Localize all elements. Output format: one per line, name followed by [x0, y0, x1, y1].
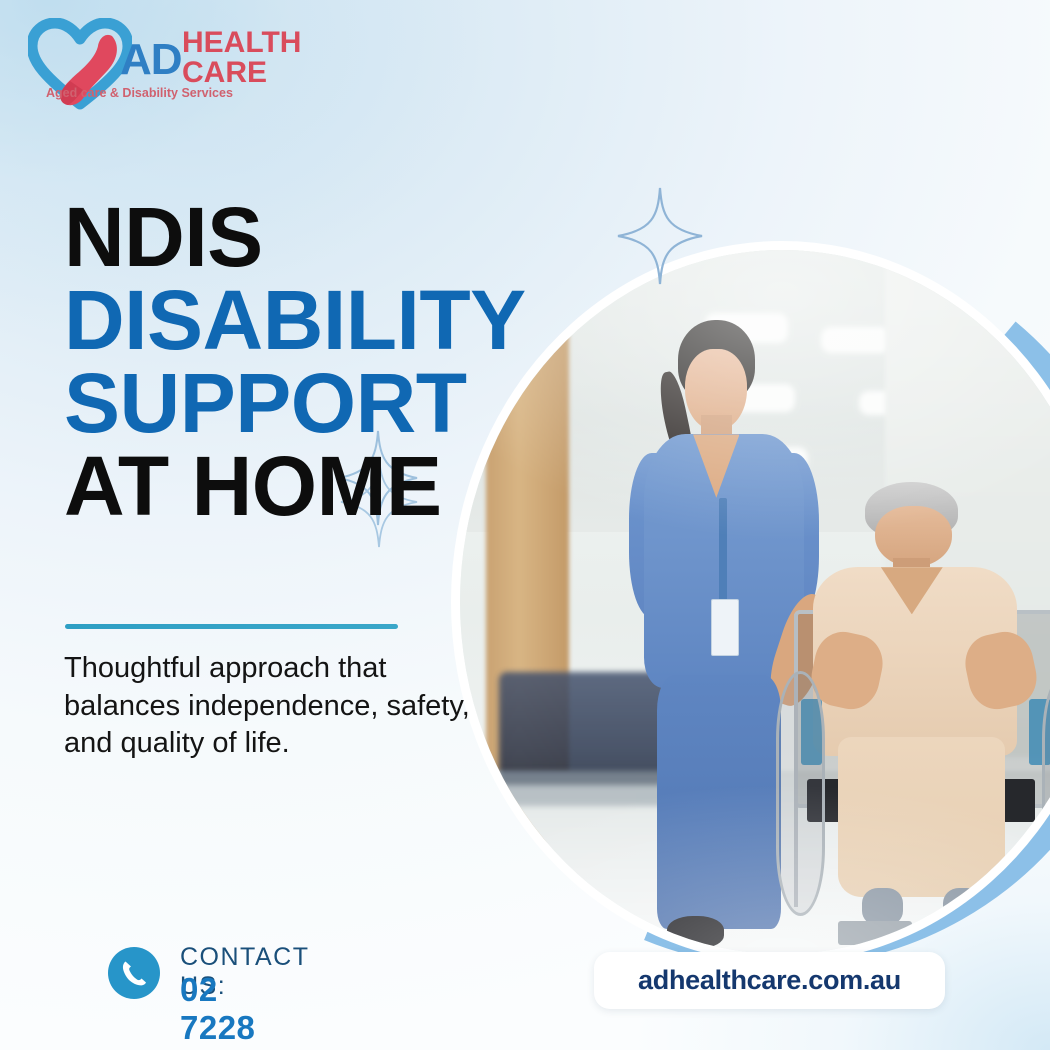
website-pill[interactable]: adhealthcare.com.au — [594, 952, 945, 1009]
headline-line-3: SUPPORT — [64, 362, 644, 445]
divider-rule — [65, 624, 398, 629]
phone-icon[interactable] — [108, 947, 160, 999]
logo-text-health: HEALTH — [182, 28, 301, 58]
headline-line-4: AT HOME — [64, 445, 644, 528]
logo-text-care: CARE — [182, 58, 267, 88]
poster-canvas: AD HEALTH CARE Aged care & Disability Se… — [0, 0, 1050, 1050]
headline-line-2: DISABILITY — [64, 279, 644, 362]
logo-tagline: Aged care & Disability Services — [46, 86, 233, 100]
headline-block: NDIS DISABILITY SUPPORT AT HOME — [64, 196, 644, 529]
contact-phone-number[interactable]: 02 7228 5505 — [180, 971, 255, 1050]
headline-line-1: NDIS — [64, 196, 644, 279]
brand-logo[interactable]: AD HEALTH CARE Aged care & Disability Se… — [28, 16, 288, 114]
logo-text-ad: AD — [120, 38, 182, 82]
subtitle-text: Thoughtful approach that balances indepe… — [64, 650, 484, 763]
website-url: adhealthcare.com.au — [638, 965, 901, 996]
